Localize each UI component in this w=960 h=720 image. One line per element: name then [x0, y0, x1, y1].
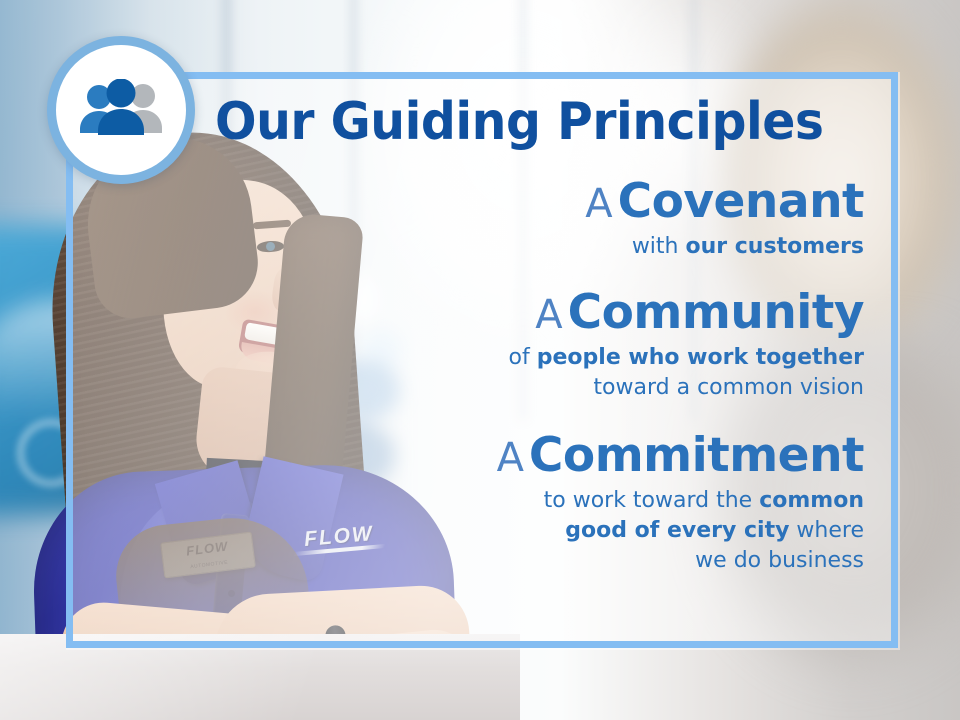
principles-list: A Covenant with our customers A Communit…: [180, 178, 886, 594]
principle-heading: A Covenant: [180, 178, 864, 226]
people-group-badge: [47, 36, 195, 184]
principle-community: A Community of people who work togethert…: [180, 289, 864, 402]
principle-word: Commitment: [529, 428, 864, 483]
principle-covenant: A Covenant with our customers: [180, 178, 864, 261]
principle-commitment: A Commitment to work toward the commongo…: [180, 432, 864, 576]
principle-word: Covenant: [618, 174, 864, 229]
principle-article: A: [497, 435, 525, 481]
principle-heading: A Commitment: [180, 432, 864, 480]
principle-heading: A Community: [180, 289, 864, 337]
page-title: Our Guiding Principles: [215, 96, 835, 148]
guiding-principles-graphic: FLOW AUTOMOTIVE FLOW: [0, 0, 960, 720]
people-group-icon: [75, 79, 167, 141]
principle-article: A: [585, 181, 613, 227]
principle-article: A: [535, 292, 563, 338]
principle-subtext: of people who work togethertoward a comm…: [180, 343, 864, 402]
principle-word: Community: [568, 285, 864, 340]
principle-subtext: with our customers: [180, 232, 864, 261]
principle-subtext: to work toward the commongood of every c…: [180, 486, 864, 576]
